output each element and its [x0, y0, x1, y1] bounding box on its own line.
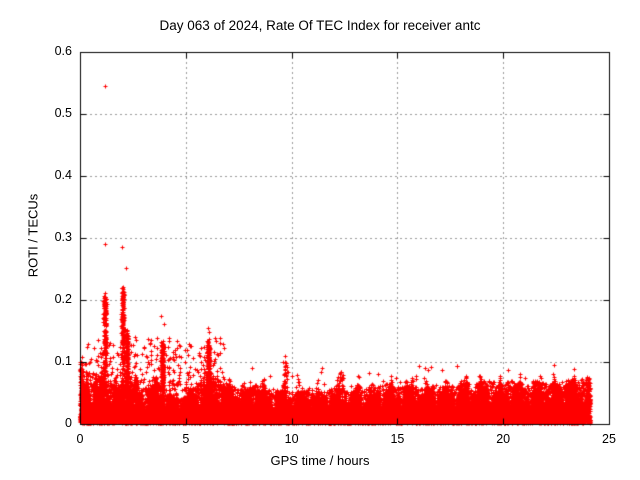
x-tick-label: 20 [473, 432, 533, 446]
chart-figure: Day 063 of 2024, Rate Of TEC Index for r… [0, 0, 640, 480]
x-tick-label: 10 [262, 432, 322, 446]
x-tick-label: 15 [367, 432, 427, 446]
x-tick-label: 0 [50, 432, 110, 446]
x-tick-label: 25 [579, 432, 639, 446]
x-tick-label: 5 [156, 432, 216, 446]
x-axis-tick-labels: 0510152025 [0, 0, 640, 480]
